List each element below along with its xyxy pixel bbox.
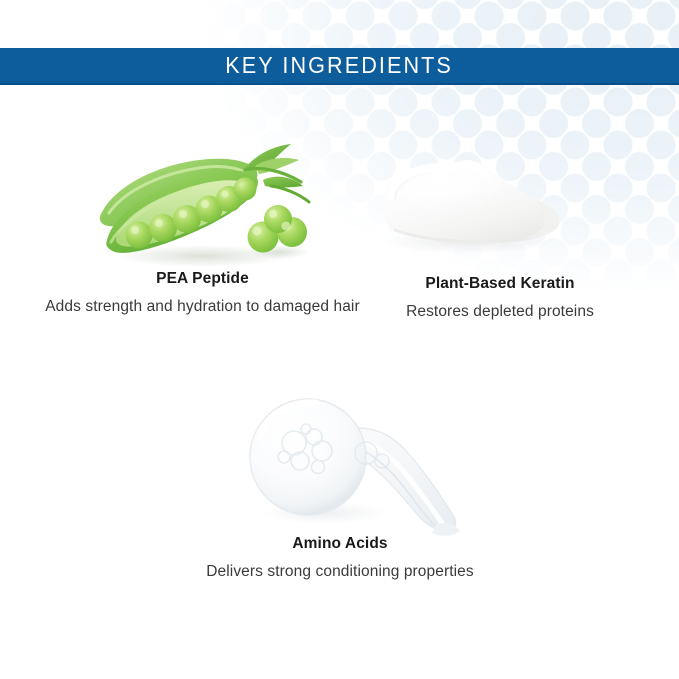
cream-swatch-icon	[365, 138, 580, 268]
gel-droplet-icon	[230, 385, 470, 560]
ingredient-card-plant-based-keratin: Plant-Based Keratin Restores depleted pr…	[355, 130, 645, 323]
ingredient-card-pea-peptide: PEA Peptide Adds strength and hydration …	[40, 130, 365, 318]
pea-pod-icon	[95, 136, 325, 271]
ingredient-title: Plant-Based Keratin	[355, 275, 645, 294]
ingredient-card-amino-acids: Amino Acids Delivers strong conditioning…	[155, 385, 525, 583]
cream-swatch-image	[355, 130, 645, 275]
key-ingredients-header-band: KEY INGREDIENTS	[0, 48, 679, 85]
ingredient-title: Amino Acids	[155, 535, 525, 554]
gel-droplet-image	[155, 385, 525, 535]
ingredient-description: Delivers strong conditioning properties	[155, 560, 525, 583]
pea-pod-image	[40, 130, 365, 270]
ingredient-title: PEA Peptide	[40, 270, 365, 289]
infographic-page: KEY INGREDIENTS	[0, 0, 679, 679]
ingredient-description: Adds strength and hydration to damaged h…	[40, 295, 365, 318]
page-title: KEY INGREDIENTS	[226, 54, 454, 77]
ingredient-description: Restores depleted proteins	[355, 300, 645, 323]
